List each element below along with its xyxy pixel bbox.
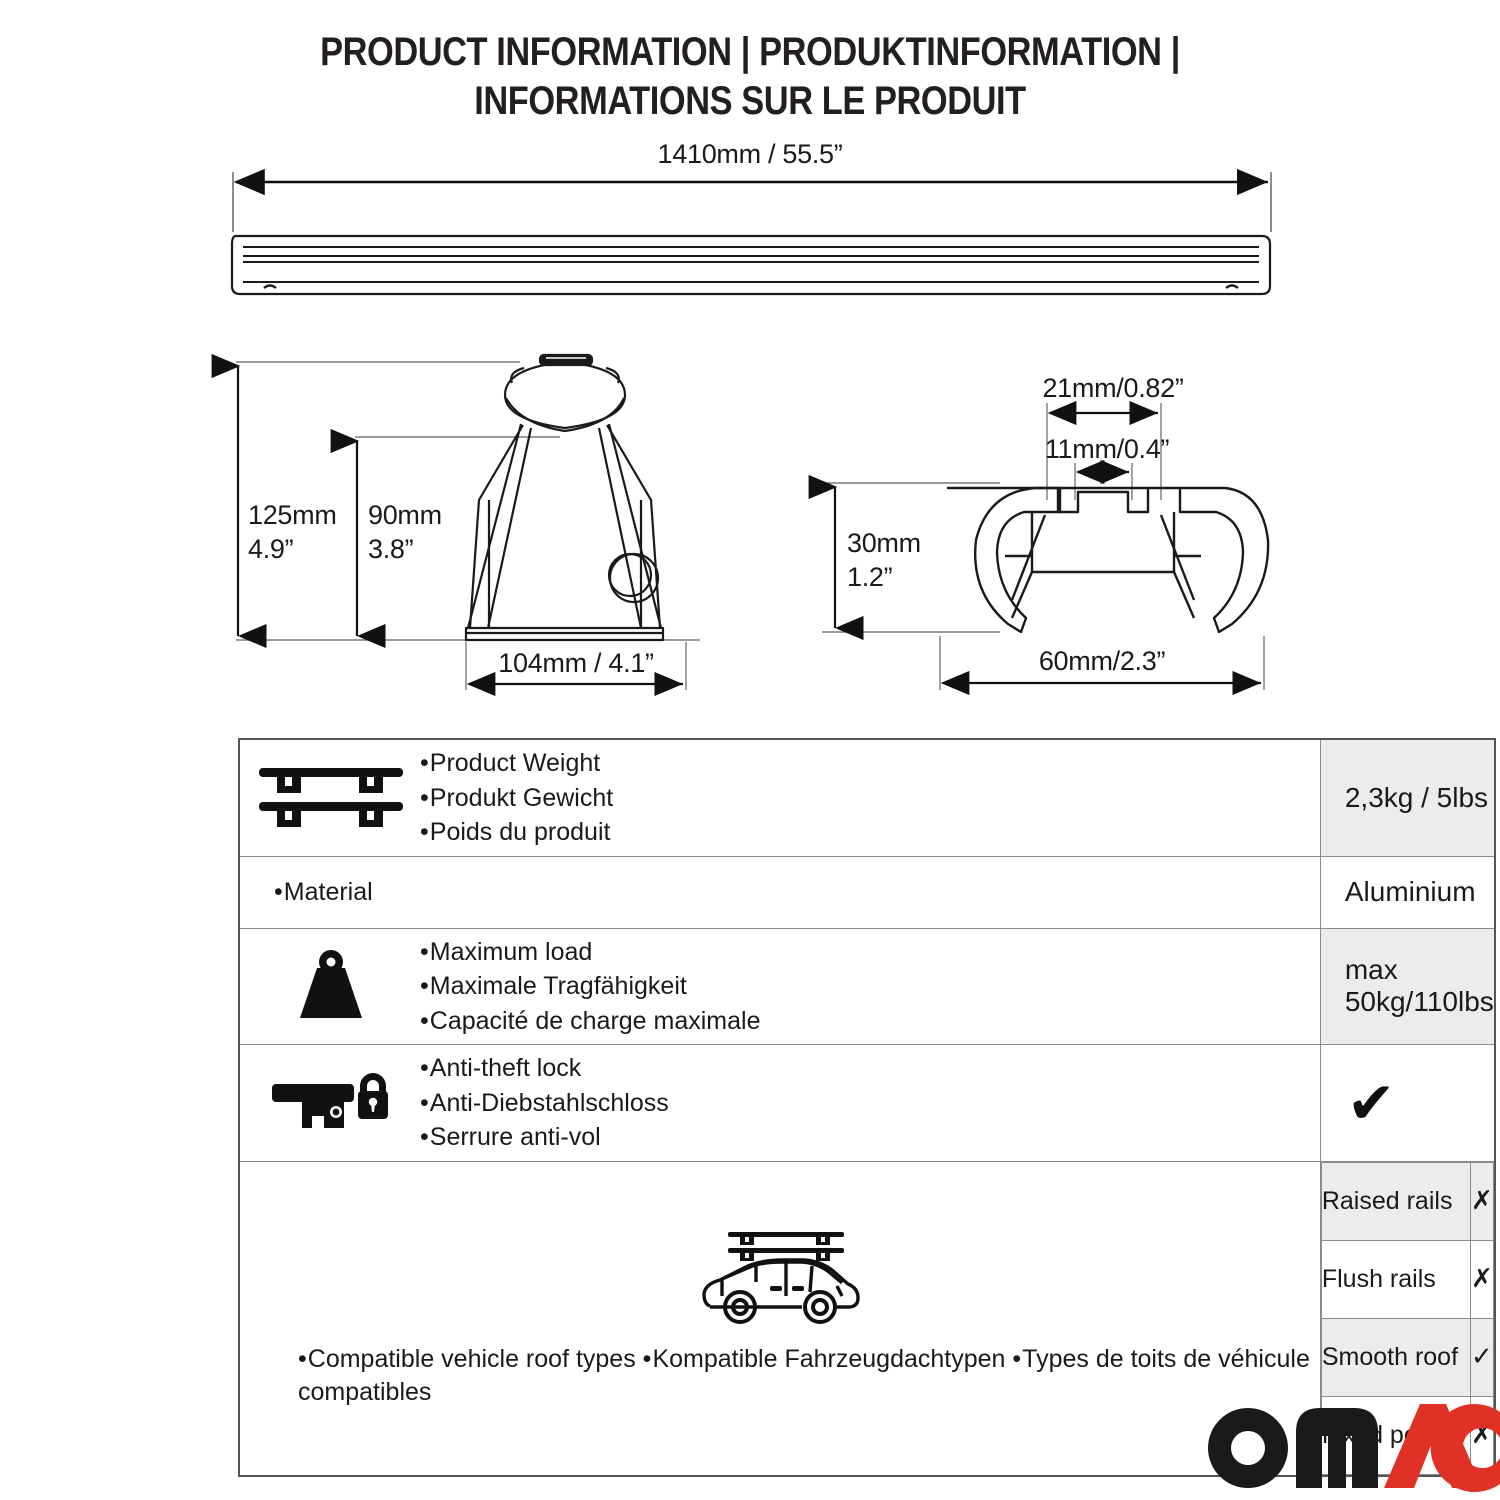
weight-value-cell: 2,3kg / 5lbs [1320, 739, 1494, 856]
bar-length-dimension: 1410mm / 55.5” [233, 139, 1271, 232]
material-label-en: Material [274, 875, 1320, 910]
length-label: 1410mm / 55.5” [658, 139, 843, 169]
roof-type-row-raised-rails: Raised rails ✗ [1321, 1162, 1493, 1240]
roof-type-value-flush-rails: ✗ [1470, 1240, 1493, 1318]
roof-types-label-cell: Compatible vehicle roof types Kompatible… [239, 1161, 1320, 1476]
height-90-inch-label: 3.8” [368, 534, 413, 564]
page-title-line-1: PRODUCT INFORMATION | PRODUKTINFORMATION… [105, 28, 1395, 77]
material-label-cell: Material [239, 856, 1320, 928]
max-load-labels: Maximum load Maximale Tragfähigkeit Capa… [420, 935, 761, 1039]
material-value: Aluminium [1321, 876, 1494, 908]
roof-types-label-en: Compatible vehicle roof types [298, 1345, 636, 1373]
lock-value-cell: ✔ [1320, 1045, 1494, 1162]
max-load-value-cell: max 50kg/110lbs [1320, 928, 1494, 1045]
slot-outer-label: 21mm/0.82” [1042, 373, 1183, 403]
table-row-lock: Anti-theft lock Anti-Diebstahlschloss Se… [239, 1045, 1495, 1162]
roof-type-row-flush-rails: Flush rails ✗ [1321, 1240, 1493, 1318]
lock-label-en: Anti-theft lock [420, 1051, 669, 1086]
height-125-inch-label: 4.9” [248, 534, 293, 564]
logo-letter-m [1296, 1408, 1378, 1488]
foot-side-view: 125mm 4.9” 90mm 3.8” [236, 355, 700, 690]
bar-width-label: 60mm/2.3” [1039, 646, 1165, 676]
roof-type-value-smooth-roof: ✓ [1470, 1318, 1493, 1396]
roof-type-name-flush-rails: Flush rails [1321, 1240, 1470, 1318]
lock-label-de: Anti-Diebstahlschloss [420, 1086, 669, 1121]
roof-types-label-fr-cont: compatibles [298, 1376, 1310, 1409]
page-title-line-2: INFORMATIONS SUR LE PRODUIT [105, 77, 1395, 126]
foot-width-label: 104mm / 4.1” [498, 648, 653, 678]
lock-label-fr: Serrure anti-vol [420, 1120, 669, 1155]
product-spec-table: Product Weight Produkt Gewicht Poids du … [238, 738, 1496, 1477]
max-load-label-cell: Maximum load Maximale Tragfähigkeit Capa… [239, 928, 1320, 1045]
car-with-rack-icon [692, 1226, 867, 1333]
roof-type-value-raised-rails: ✗ [1470, 1162, 1493, 1240]
lock-check-icon: ✔ [1321, 1074, 1494, 1132]
bar-height-label: 30mm [847, 528, 921, 558]
material-value-cell: Aluminium [1320, 856, 1494, 928]
height-90-label: 90mm [368, 500, 442, 530]
page-title: PRODUCT INFORMATION | PRODUKTINFORMATION… [0, 28, 1500, 126]
max-load-value: max 50kg/110lbs [1321, 954, 1494, 1018]
weight-label-de: Produkt Gewicht [420, 781, 613, 816]
omac-logo [1200, 1402, 1500, 1492]
table-row-weight: Product Weight Produkt Gewicht Poids du … [239, 739, 1495, 856]
roof-types-label-fr: Types de toits de véhicule [1012, 1345, 1309, 1373]
max-load-label-fr: Capacité de charge maximale [420, 1004, 761, 1039]
roof-type-name-raised-rails: Raised rails [1321, 1162, 1470, 1240]
table-row-max-load: Maximum load Maximale Tragfähigkeit Capa… [239, 928, 1495, 1045]
table-row-material: Material Aluminium [239, 856, 1495, 928]
roof-types-labels: Compatible vehicle roof types Kompatible… [250, 1343, 1310, 1409]
lock-icon [246, 1064, 416, 1142]
roof-bars-icon [246, 762, 416, 834]
height-125-label: 125mm [248, 500, 337, 530]
weight-label-fr: Poids du produit [420, 815, 613, 850]
max-load-label-de: Maximale Tragfähigkeit [420, 969, 761, 1004]
roof-type-row-smooth-roof: Smooth roof ✓ [1321, 1318, 1493, 1396]
material-labels: Material [240, 875, 1320, 910]
roof-type-name-smooth-roof: Smooth roof [1321, 1318, 1470, 1396]
lock-label-cell: Anti-theft lock Anti-Diebstahlschloss Se… [239, 1045, 1320, 1162]
lock-labels: Anti-theft lock Anti-Diebstahlschloss Se… [420, 1051, 669, 1155]
bar-height-inch-label: 1.2” [847, 562, 892, 592]
crossbar-side-profile [232, 236, 1270, 294]
weight-icon [246, 948, 416, 1024]
weight-label-en: Product Weight [420, 746, 613, 781]
slot-inner-label: 11mm/0.4” [1045, 434, 1169, 464]
weight-label-cell: Product Weight Produkt Gewicht Poids du … [239, 739, 1320, 856]
roof-types-label-de: Kompatible Fahrzeugdachtypen [643, 1345, 1006, 1373]
max-load-label-en: Maximum load [420, 935, 761, 970]
weight-value: 2,3kg / 5lbs [1321, 782, 1494, 814]
weight-labels: Product Weight Produkt Gewicht Poids du … [420, 746, 613, 850]
bar-cross-section: 21mm/0.82” 11mm/0.4” 30mm 1.2” [822, 373, 1268, 690]
